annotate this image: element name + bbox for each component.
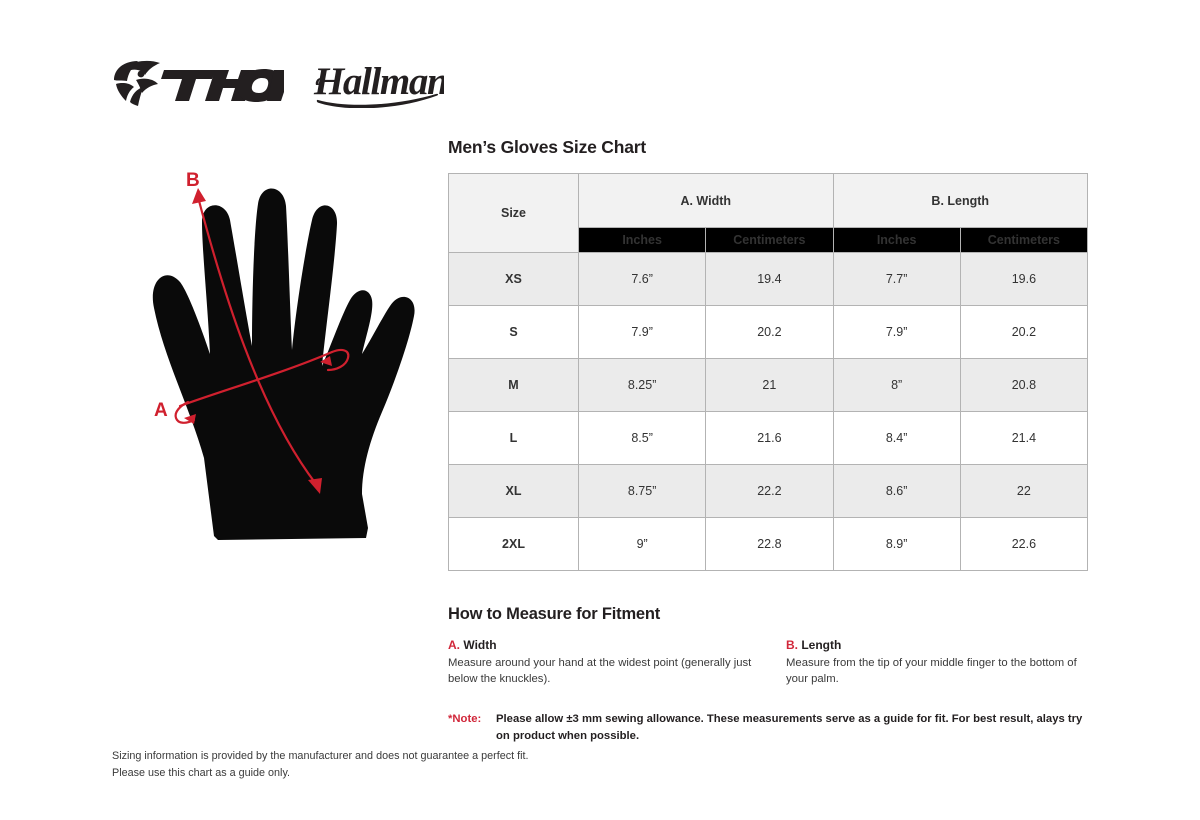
measure-label-length: B. Length: [786, 638, 1088, 652]
cell-size: S: [449, 306, 579, 359]
hallman-logo: Hallman: [312, 56, 444, 108]
column-group-length: B. Length: [833, 174, 1088, 228]
measure-label-width: A. Width: [448, 638, 758, 652]
cell-width-in: 8.75”: [579, 465, 706, 518]
label-a: A: [154, 400, 168, 421]
measure-item-width: A. Width Measure around your hand at the…: [448, 638, 786, 687]
column-header-length-inches: Inches: [833, 228, 960, 253]
table-row: XS 7.6” 19.4 7.7” 19.6: [449, 253, 1088, 306]
table-header-group-row: Size A. Width B. Length: [449, 174, 1088, 228]
measure-description-length: Measure from the tip of your middle fing…: [786, 655, 1088, 687]
cell-length-in: 8.6”: [833, 465, 960, 518]
thor-logo: [112, 56, 284, 108]
cell-length-cm: 21.4: [960, 412, 1087, 465]
cell-width-cm: 19.4: [706, 253, 833, 306]
hand-measurement-diagram: A B: [118, 158, 438, 548]
measure-mark-a: A.: [448, 638, 460, 652]
table-row: L 8.5” 21.6 8.4” 21.4: [449, 412, 1088, 465]
table-row: XL 8.75” 22.2 8.6” 22: [449, 465, 1088, 518]
svg-text:Hallman: Hallman: [313, 60, 444, 103]
page-title: Men’s Gloves Size Chart: [448, 138, 1088, 157]
cell-length-cm: 19.6: [960, 253, 1087, 306]
cell-length-in: 7.9”: [833, 306, 960, 359]
column-group-width: A. Width: [579, 174, 834, 228]
cell-size: XL: [449, 465, 579, 518]
cell-length-cm: 20.8: [960, 359, 1087, 412]
note-text: Please allow ±3 mm sewing allowance. The…: [496, 711, 1088, 744]
footer-line-1: Sizing information is provided by the ma…: [112, 748, 529, 765]
cell-length-cm: 22: [960, 465, 1087, 518]
cell-size: L: [449, 412, 579, 465]
column-header-size: Size: [449, 174, 579, 253]
cell-length-in: 7.7”: [833, 253, 960, 306]
cell-size: XS: [449, 253, 579, 306]
cell-length-in: 8”: [833, 359, 960, 412]
cell-length-cm: 22.6: [960, 518, 1087, 571]
column-header-length-centimeters: Centimeters: [960, 228, 1087, 253]
brand-logo-row: Hallman: [112, 52, 444, 112]
how-to-measure-title: How to Measure for Fitment: [448, 605, 1088, 624]
cell-length-in: 8.9”: [833, 518, 960, 571]
cell-length-cm: 20.2: [960, 306, 1087, 359]
size-chart-table: Size A. Width B. Length Inches Centimete…: [448, 173, 1088, 571]
column-header-width-centimeters: Centimeters: [706, 228, 833, 253]
cell-width-cm: 20.2: [706, 306, 833, 359]
main-content: Men’s Gloves Size Chart Size A. Width B.…: [448, 138, 1088, 744]
table-row: M 8.25” 21 8” 20.8: [449, 359, 1088, 412]
cell-width-cm: 21: [706, 359, 833, 412]
cell-width-cm: 22.2: [706, 465, 833, 518]
cell-width-in: 8.25”: [579, 359, 706, 412]
measure-name-length: Length: [801, 638, 841, 652]
measure-name-width: Width: [463, 638, 496, 652]
cell-width-in: 7.6”: [579, 253, 706, 306]
label-b: B: [186, 170, 200, 191]
note-section: *Note: Please allow ±3 mm sewing allowan…: [448, 711, 1088, 744]
table-row: S 7.9” 20.2 7.9” 20.2: [449, 306, 1088, 359]
cell-size: M: [449, 359, 579, 412]
cell-width-in: 8.5”: [579, 412, 706, 465]
measure-item-length: B. Length Measure from the tip of your m…: [786, 638, 1088, 687]
footer-line-2: Please use this chart as a guide only.: [112, 765, 529, 782]
column-header-width-inches: Inches: [579, 228, 706, 253]
table-row: 2XL 9” 22.8 8.9” 22.6: [449, 518, 1088, 571]
cell-size: 2XL: [449, 518, 579, 571]
cell-width-in: 7.9”: [579, 306, 706, 359]
measure-description-width: Measure around your hand at the widest p…: [448, 655, 758, 687]
hand-silhouette: [153, 188, 415, 540]
cell-length-in: 8.4”: [833, 412, 960, 465]
cell-width-cm: 21.6: [706, 412, 833, 465]
cell-width-in: 9”: [579, 518, 706, 571]
footer-disclaimer: Sizing information is provided by the ma…: [112, 748, 529, 781]
note-label: *Note:: [448, 711, 496, 727]
cell-width-cm: 22.8: [706, 518, 833, 571]
how-to-measure-section: How to Measure for Fitment A. Width Meas…: [448, 605, 1088, 687]
measure-mark-b: B.: [786, 638, 798, 652]
